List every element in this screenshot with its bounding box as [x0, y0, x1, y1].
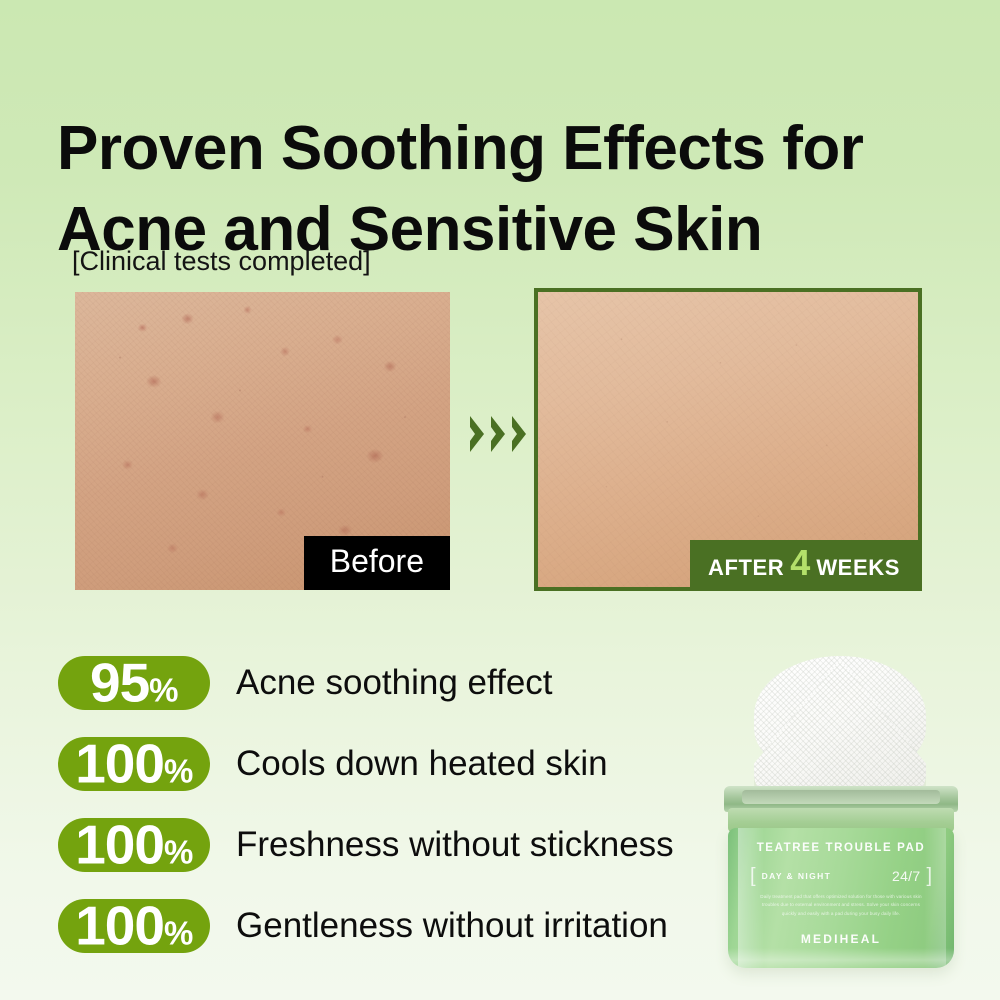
stat-unit: % [164, 752, 193, 789]
chevron-right-icon [489, 414, 507, 454]
stat-percentage-text: 100% [58, 736, 210, 791]
product-usage: DAY & NIGHT [762, 871, 832, 881]
jar-rim-inner [742, 790, 940, 804]
bracket-left: [ [750, 866, 756, 886]
stat-percentage-badge: 100% [58, 737, 210, 791]
after-label-number: 4 [790, 547, 810, 579]
jar-label: TEATREE TROUBLE PAD [ DAY & NIGHT 24/7 ]… [728, 842, 954, 918]
chevron-right-icon [468, 414, 486, 454]
after-label-prefix: AFTER [708, 557, 784, 579]
brand-name: MEDIHEAL [728, 932, 954, 946]
stat-label: Cools down heated skin [236, 744, 608, 784]
product-name: TEATREE TROUBLE PAD [728, 842, 954, 854]
before-label: Before [304, 536, 450, 590]
stat-row: 100% Cools down heated skin [58, 723, 718, 804]
clinical-test-note: [Clinical tests completed] [72, 246, 371, 277]
after-label-suffix: WEEKS [816, 557, 900, 579]
stat-label: Freshness without stickness [236, 825, 674, 865]
headline-line-1: Proven Soothing Effects for [57, 108, 937, 190]
stat-unit: % [164, 833, 193, 870]
stat-value: 95 [90, 651, 149, 713]
stat-value: 100 [75, 894, 164, 956]
chevron-right-icon [510, 414, 528, 454]
stat-percentage-badge: 100% [58, 818, 210, 872]
stat-percentage-badge: 95% [58, 656, 210, 710]
stat-row: 100% Freshness without stickness [58, 804, 718, 885]
after-image-panel: AFTER 4 WEEKS [534, 288, 922, 591]
product-promo-poster: Proven Soothing Effects for Acne and Sen… [0, 0, 1000, 1000]
stat-label: Gentleness without irritation [236, 906, 668, 946]
stat-row: 95% Acne soothing effect [58, 642, 718, 723]
before-image-panel: Before [75, 292, 450, 590]
triple-chevron-right-icon [468, 414, 528, 454]
stat-percentage-text: 100% [58, 898, 210, 953]
stat-row: 100% Gentleness without irritation [58, 885, 718, 966]
product-jar: TEATREE TROUBLE PAD [ DAY & NIGHT 24/7 ]… [716, 660, 966, 968]
stat-label: Acne soothing effect [236, 663, 553, 703]
benefit-stats-list: 95% Acne soothing effect 100% Cools down… [58, 642, 718, 966]
after-label: AFTER 4 WEEKS [690, 540, 918, 587]
stat-percentage-badge: 100% [58, 899, 210, 953]
stat-value: 100 [75, 813, 164, 875]
stat-percentage-text: 100% [58, 817, 210, 872]
product-description: Daily treatment pad that offers optimize… [756, 893, 926, 918]
stat-value: 100 [75, 732, 164, 794]
jar-body: TEATREE TROUBLE PAD [ DAY & NIGHT 24/7 ]… [728, 828, 954, 968]
product-frequency: 24/7 [892, 868, 920, 884]
stat-unit: % [164, 914, 193, 951]
stat-unit: % [149, 671, 178, 708]
stat-percentage-text: 95% [58, 655, 210, 710]
bracket-right: ] [926, 866, 932, 886]
jar-label-middle-row: [ DAY & NIGHT 24/7 ] [728, 866, 954, 886]
jar-base-highlight [728, 948, 954, 968]
